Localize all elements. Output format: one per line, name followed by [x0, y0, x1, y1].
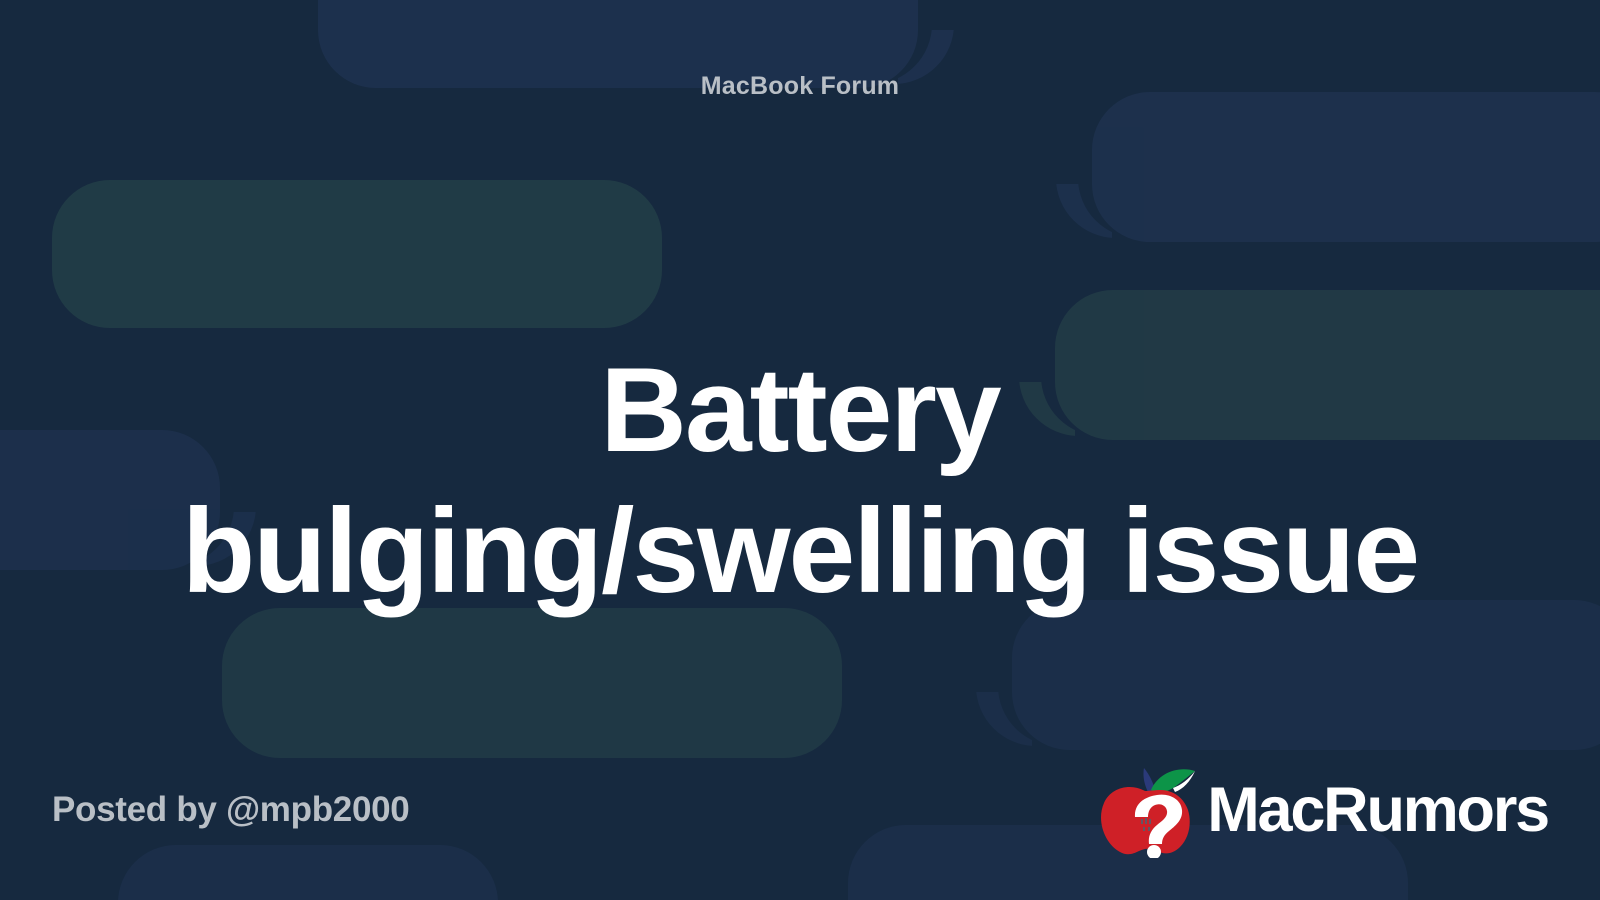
- card-footer: Posted by @mpb2000: [0, 720, 1600, 900]
- brand-name-label: MacRumors: [1207, 779, 1548, 842]
- brand-lockup: MacRumors: [1093, 762, 1548, 858]
- posted-by-label: Posted by @mpb2000: [52, 790, 409, 830]
- macrumors-apple-question-mark-logo: [1093, 762, 1201, 858]
- share-card: MacBook Forum Battery bulging/swelling i…: [0, 0, 1600, 900]
- page-title: Battery bulging/swelling issue: [180, 340, 1420, 621]
- card-content: MacBook Forum Battery bulging/swelling i…: [0, 0, 1600, 900]
